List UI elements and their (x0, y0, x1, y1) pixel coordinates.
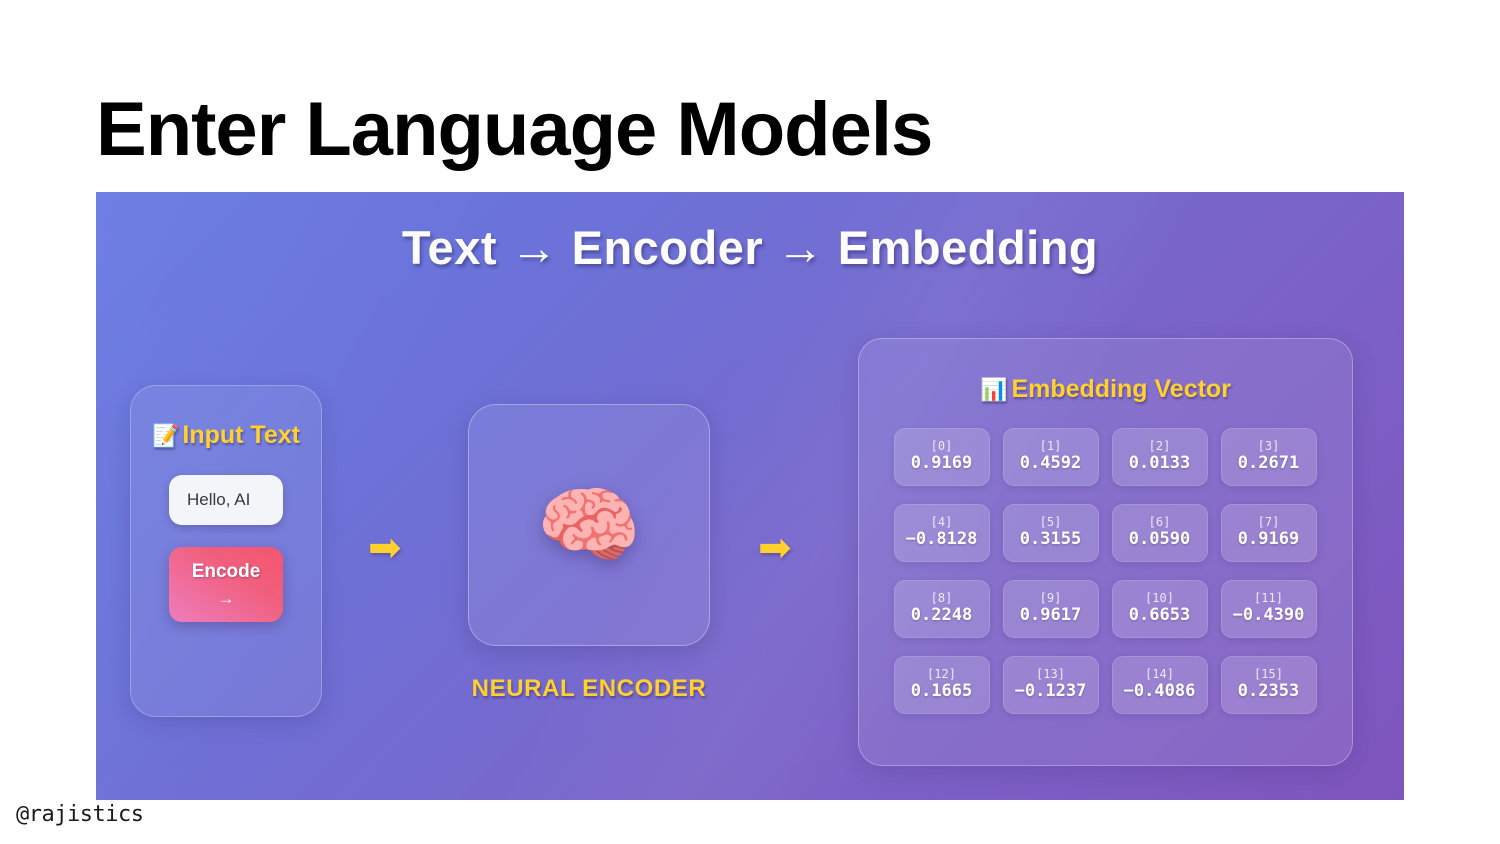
embedding-vector-title: 📊Embedding Vector (859, 375, 1352, 404)
vector-cell-value: 0.9169 (1238, 529, 1299, 550)
flow-arrow-icon-1: ➡ (368, 528, 402, 568)
vector-cell-index: [2] (1149, 440, 1171, 453)
vector-cell: [2]0.0133 (1112, 428, 1208, 486)
vector-cell: [1]0.4592 (1003, 428, 1099, 486)
vector-cell-value: 0.6653 (1129, 605, 1190, 626)
vector-cell-index: [12] (927, 668, 956, 681)
vector-cell-value: 0.2353 (1238, 681, 1299, 702)
vector-cell-value: 0.9617 (1020, 605, 1081, 626)
page-title: Enter Language Models (96, 92, 932, 168)
vector-cell: [5]0.3155 (1003, 504, 1099, 562)
diagram-heading: Text → Encoder → Embedding (96, 220, 1404, 275)
vector-cell-index: [15] (1254, 668, 1283, 681)
vector-cell-value: 0.4592 (1020, 453, 1081, 474)
bar-chart-icon: 📊 (980, 377, 1007, 402)
encoder-caption: NEURAL ENCODER (472, 675, 707, 703)
vector-cell-index: [10] (1145, 592, 1174, 605)
vector-cell-value: 0.0133 (1129, 453, 1190, 474)
vector-cell-index: [6] (1149, 516, 1171, 529)
vector-cell: [0]0.9169 (894, 428, 990, 486)
vector-cell-value: 0.2248 (911, 605, 972, 626)
vector-cell: [6]0.0590 (1112, 504, 1208, 562)
arrow-right-icon: → (218, 590, 235, 607)
text-input-value: Hello, AI (187, 490, 250, 510)
vector-cell-value: 0.9169 (911, 453, 972, 474)
vector-cell: [11]−0.4390 (1221, 580, 1317, 638)
vector-cell-index: [4] (931, 516, 953, 529)
vector-cell-value: −0.1237 (1015, 681, 1087, 702)
vector-cell-value: 0.1665 (911, 681, 972, 702)
vector-cell-index: [3] (1258, 440, 1280, 453)
vector-cell-value: 0.3155 (1020, 529, 1081, 550)
vector-cell: [9]0.9617 (1003, 580, 1099, 638)
encoder-box: 🧠 (468, 404, 710, 646)
encode-button-label: Encode (192, 562, 261, 581)
vector-cell: [3]0.2671 (1221, 428, 1317, 486)
vector-cell-value: 0.0590 (1129, 529, 1190, 550)
vector-cell: [8]0.2248 (894, 580, 990, 638)
input-text-label-text: Input Text (182, 421, 300, 449)
neural-encoder-block: 🧠 NEURAL ENCODER (469, 404, 709, 703)
vector-cell: [12]0.1665 (894, 656, 990, 714)
vector-cell: [14]−0.4086 (1112, 656, 1208, 714)
vector-cell: [7]0.9169 (1221, 504, 1317, 562)
vector-cell-index: [14] (1145, 668, 1174, 681)
brain-icon: 🧠 (537, 483, 642, 567)
embedding-vector-title-text: Embedding Vector (1011, 375, 1230, 403)
vector-cell-value: 0.2671 (1238, 453, 1299, 474)
vector-cell: [4]−0.8128 (894, 504, 990, 562)
vector-grid: [0]0.9169[1]0.4592[2]0.0133[3]0.2671[4]−… (894, 428, 1318, 714)
vector-cell-index: [13] (1036, 668, 1065, 681)
vector-cell-index: [1] (1040, 440, 1062, 453)
text-input[interactable]: Hello, AI (169, 475, 283, 525)
flow-arrow-icon-2: ➡ (758, 528, 792, 568)
vector-cell-value: −0.4086 (1124, 681, 1196, 702)
vector-cell-index: [8] (931, 592, 953, 605)
encode-button[interactable]: Encode → (169, 547, 283, 622)
vector-cell-index: [11] (1254, 592, 1283, 605)
embedding-vector-panel: 📊Embedding Vector [0]0.9169[1]0.4592[2]0… (858, 338, 1353, 766)
vector-cell-value: −0.4390 (1233, 605, 1305, 626)
vector-cell: [15]0.2353 (1221, 656, 1317, 714)
watermark: @rajistics (16, 802, 143, 827)
input-text-label: 📝Input Text (146, 419, 306, 452)
vector-cell-value: −0.8128 (906, 529, 978, 550)
vector-cell-index: [7] (1258, 516, 1280, 529)
vector-cell-index: [0] (931, 440, 953, 453)
vector-cell-index: [9] (1040, 592, 1062, 605)
vector-cell-index: [5] (1040, 516, 1062, 529)
input-text-card: 📝Input Text Hello, AI Encode → (130, 385, 322, 717)
vector-cell: [13]−0.1237 (1003, 656, 1099, 714)
vector-cell: [10]0.6653 (1112, 580, 1208, 638)
memo-icon: 📝 (152, 423, 179, 448)
